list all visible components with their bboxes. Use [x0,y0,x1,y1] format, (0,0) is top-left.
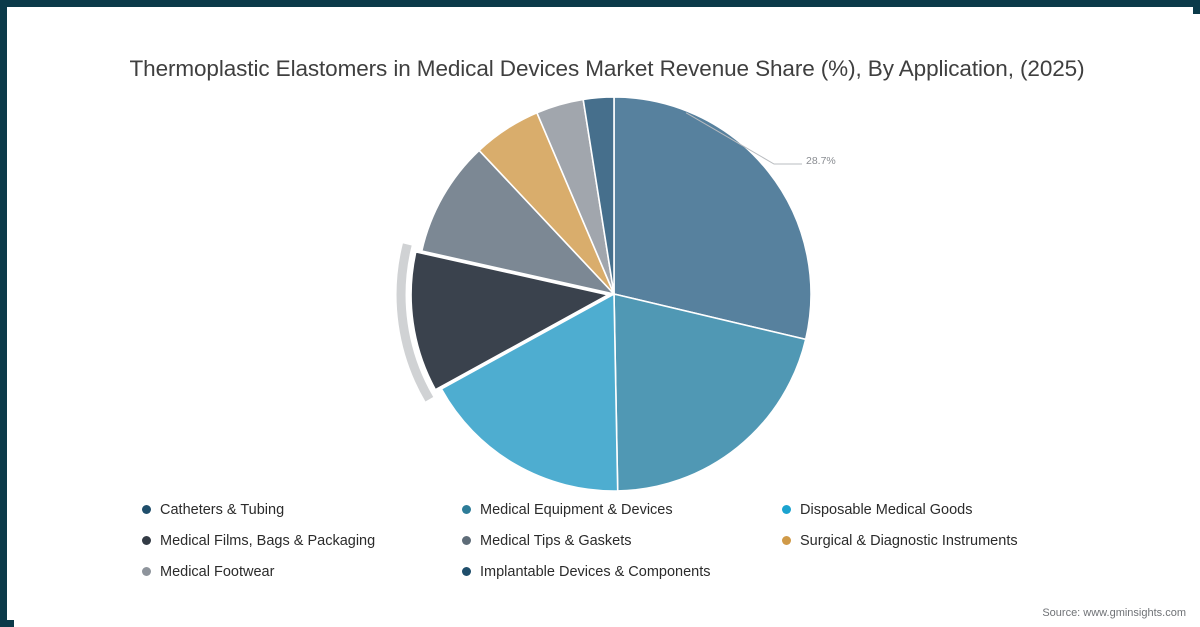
legend-marker-icon [142,505,151,514]
legend-marker-icon [462,536,471,545]
legend-marker-icon [142,536,151,545]
legend-item-label: Implantable Devices & Components [480,564,711,580]
legend-item-medical-footwear[interactable]: Medical Footwear [142,564,462,580]
legend-item-implantable-devices-components[interactable]: Implantable Devices & Components [462,564,782,580]
pie-chart-svg: Catheters & Tubing: 28.7%Medical Equipme… [344,92,884,492]
legend-row: Medical Films, Bags & Packaging Medical … [142,525,1102,556]
legend-item-medical-equipment-devices[interactable]: Medical Equipment & Devices [462,502,782,518]
pie-chart: Catheters & Tubing: 28.7%Medical Equipme… [344,92,884,492]
legend-item-label: Medical Equipment & Devices [480,502,673,518]
legend-item-label: Medical Footwear [160,564,274,580]
legend-item-medical-films-bags-packaging[interactable]: Medical Films, Bags & Packaging [142,533,462,549]
legend-item-label: Disposable Medical Goods [800,502,972,518]
legend-row: Medical Footwear Implantable Devices & C… [142,556,1102,587]
chart-canvas: Thermoplastic Elastomers in Medical Devi… [14,14,1200,627]
legend-item-catheters-tubing[interactable]: Catheters & Tubing [142,502,462,518]
legend-marker-icon [782,536,791,545]
legend-item-disposable-medical-goods[interactable]: Disposable Medical Goods [782,502,1102,518]
pie-data-label-primary: 28.7% [806,155,836,167]
legend-item-label: Medical Tips & Gaskets [480,533,632,549]
chart-frame: Thermoplastic Elastomers in Medical Devi… [0,0,1200,627]
pie-slice-group: Catheters & Tubing: 28.7%Medical Equipme… [401,97,811,491]
legend-marker-icon [462,505,471,514]
source-attribution: Source: www.gminsights.com [1042,607,1186,619]
legend-item-surgical-diagnostic-instruments[interactable]: Surgical & Diagnostic Instruments [782,533,1102,549]
legend-item-label: Catheters & Tubing [160,502,284,518]
legend-item-medical-tips-gaskets[interactable]: Medical Tips & Gaskets [462,533,782,549]
legend-marker-icon [782,505,791,514]
legend-item-label: Medical Films, Bags & Packaging [160,533,375,549]
chart-legend: Catheters & Tubing Medical Equipment & D… [142,494,1102,587]
legend-marker-icon [462,567,471,576]
legend-row: Catheters & Tubing Medical Equipment & D… [142,494,1102,525]
legend-item-label: Surgical & Diagnostic Instruments [800,533,1018,549]
page-title: Thermoplastic Elastomers in Medical Devi… [14,56,1200,82]
legend-marker-icon [142,567,151,576]
